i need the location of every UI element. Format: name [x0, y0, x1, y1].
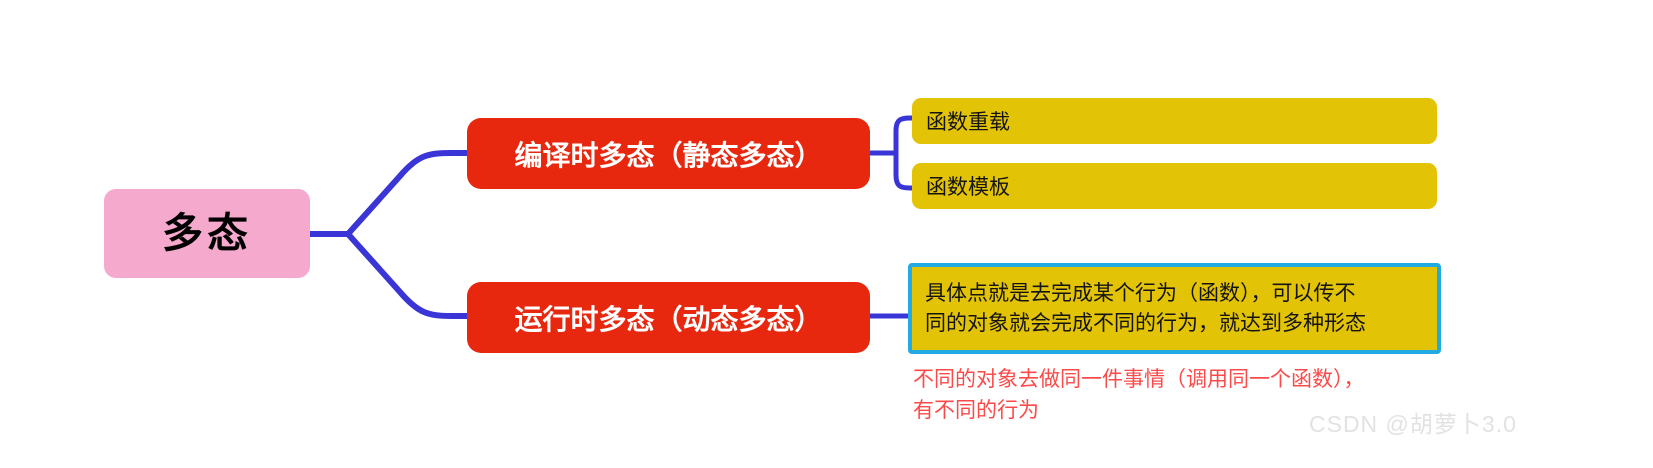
- root-node[interactable]: 多态: [104, 189, 310, 278]
- leaf-node-function-template-label: 函数模板: [926, 171, 1010, 201]
- branch-node-runtime[interactable]: 运行时多态（动态多态）: [467, 282, 870, 353]
- leaf-node-function-overload-label: 函数重载: [926, 106, 1010, 136]
- root-node-label: 多态: [162, 213, 252, 254]
- branch-node-runtime-label: 运行时多态（动态多态）: [514, 298, 822, 338]
- mindmap-canvas: 多态 编译时多态（静态多态） 运行时多态（动态多态） 函数重载 函数模板 具体点…: [0, 0, 1653, 468]
- branch-node-compile-time-label: 编译时多态（静态多态）: [514, 134, 822, 174]
- leaf-node-function-overload[interactable]: 函数重载: [912, 98, 1437, 144]
- note-line-2: 同的对象就会完成不同的行为，就达到多种形态: [925, 309, 1366, 339]
- leaf-node-runtime-description[interactable]: 具体点就是去完成某个行为（函数），可以传不 同的对象就会完成不同的行为，就达到多…: [908, 263, 1441, 354]
- note-line-1: 具体点就是去完成某个行为（函数），可以传不: [925, 279, 1366, 309]
- leaf-node-runtime-description-text: 具体点就是去完成某个行为（函数），可以传不 同的对象就会完成不同的行为，就达到多…: [912, 279, 1376, 339]
- leaf-node-function-template[interactable]: 函数模板: [912, 163, 1437, 209]
- csdn-watermark: CSDN @胡萝卜3.0: [1309, 405, 1517, 439]
- annotation-line-1: 不同的对象去做同一件事情（调用同一个函数），: [913, 364, 1453, 395]
- branch-node-compile-time[interactable]: 编译时多态（静态多态）: [467, 118, 870, 189]
